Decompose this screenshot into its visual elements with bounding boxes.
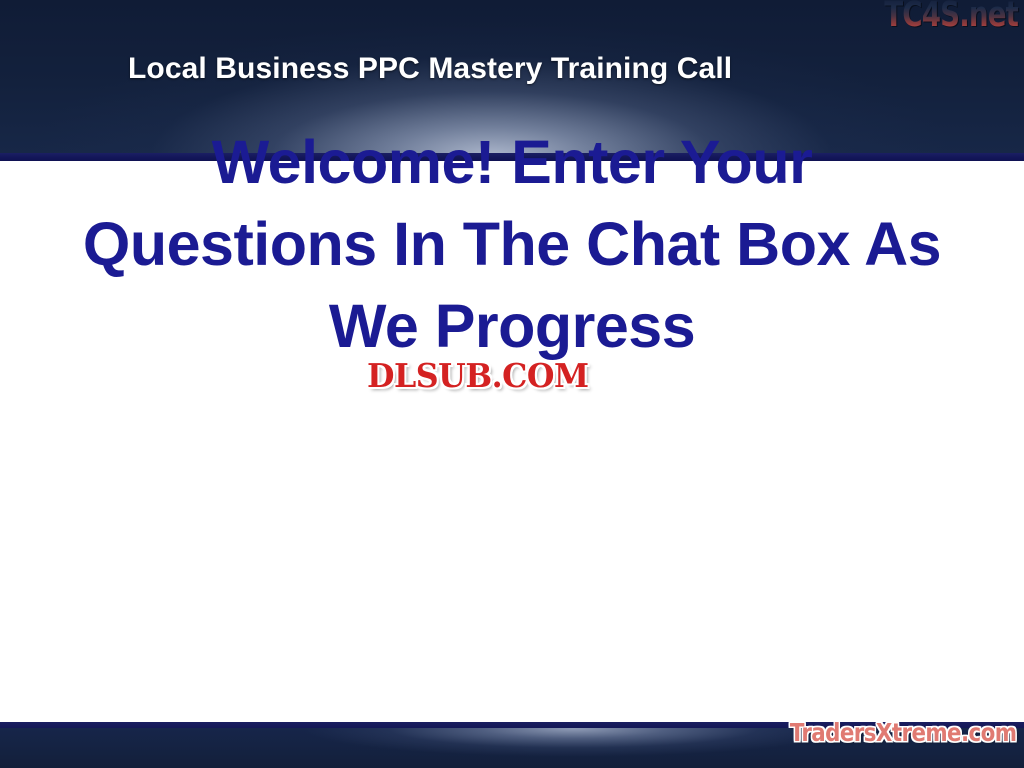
tc4s-watermark: TC4S.net	[884, 0, 1018, 33]
slide-header-title: Local Business PPC Mastery Training Call	[128, 52, 958, 86]
presentation-slide: TC4S.net TC4S.net Local Business PPC Mas…	[0, 0, 1024, 768]
slide-main-heading: Welcome! Enter Your Questions In The Cha…	[62, 121, 962, 367]
tradersxtreme-watermark: TradersXtreme.com	[789, 719, 1016, 748]
dlsub-watermark: DLSUB.COM	[367, 359, 589, 392]
